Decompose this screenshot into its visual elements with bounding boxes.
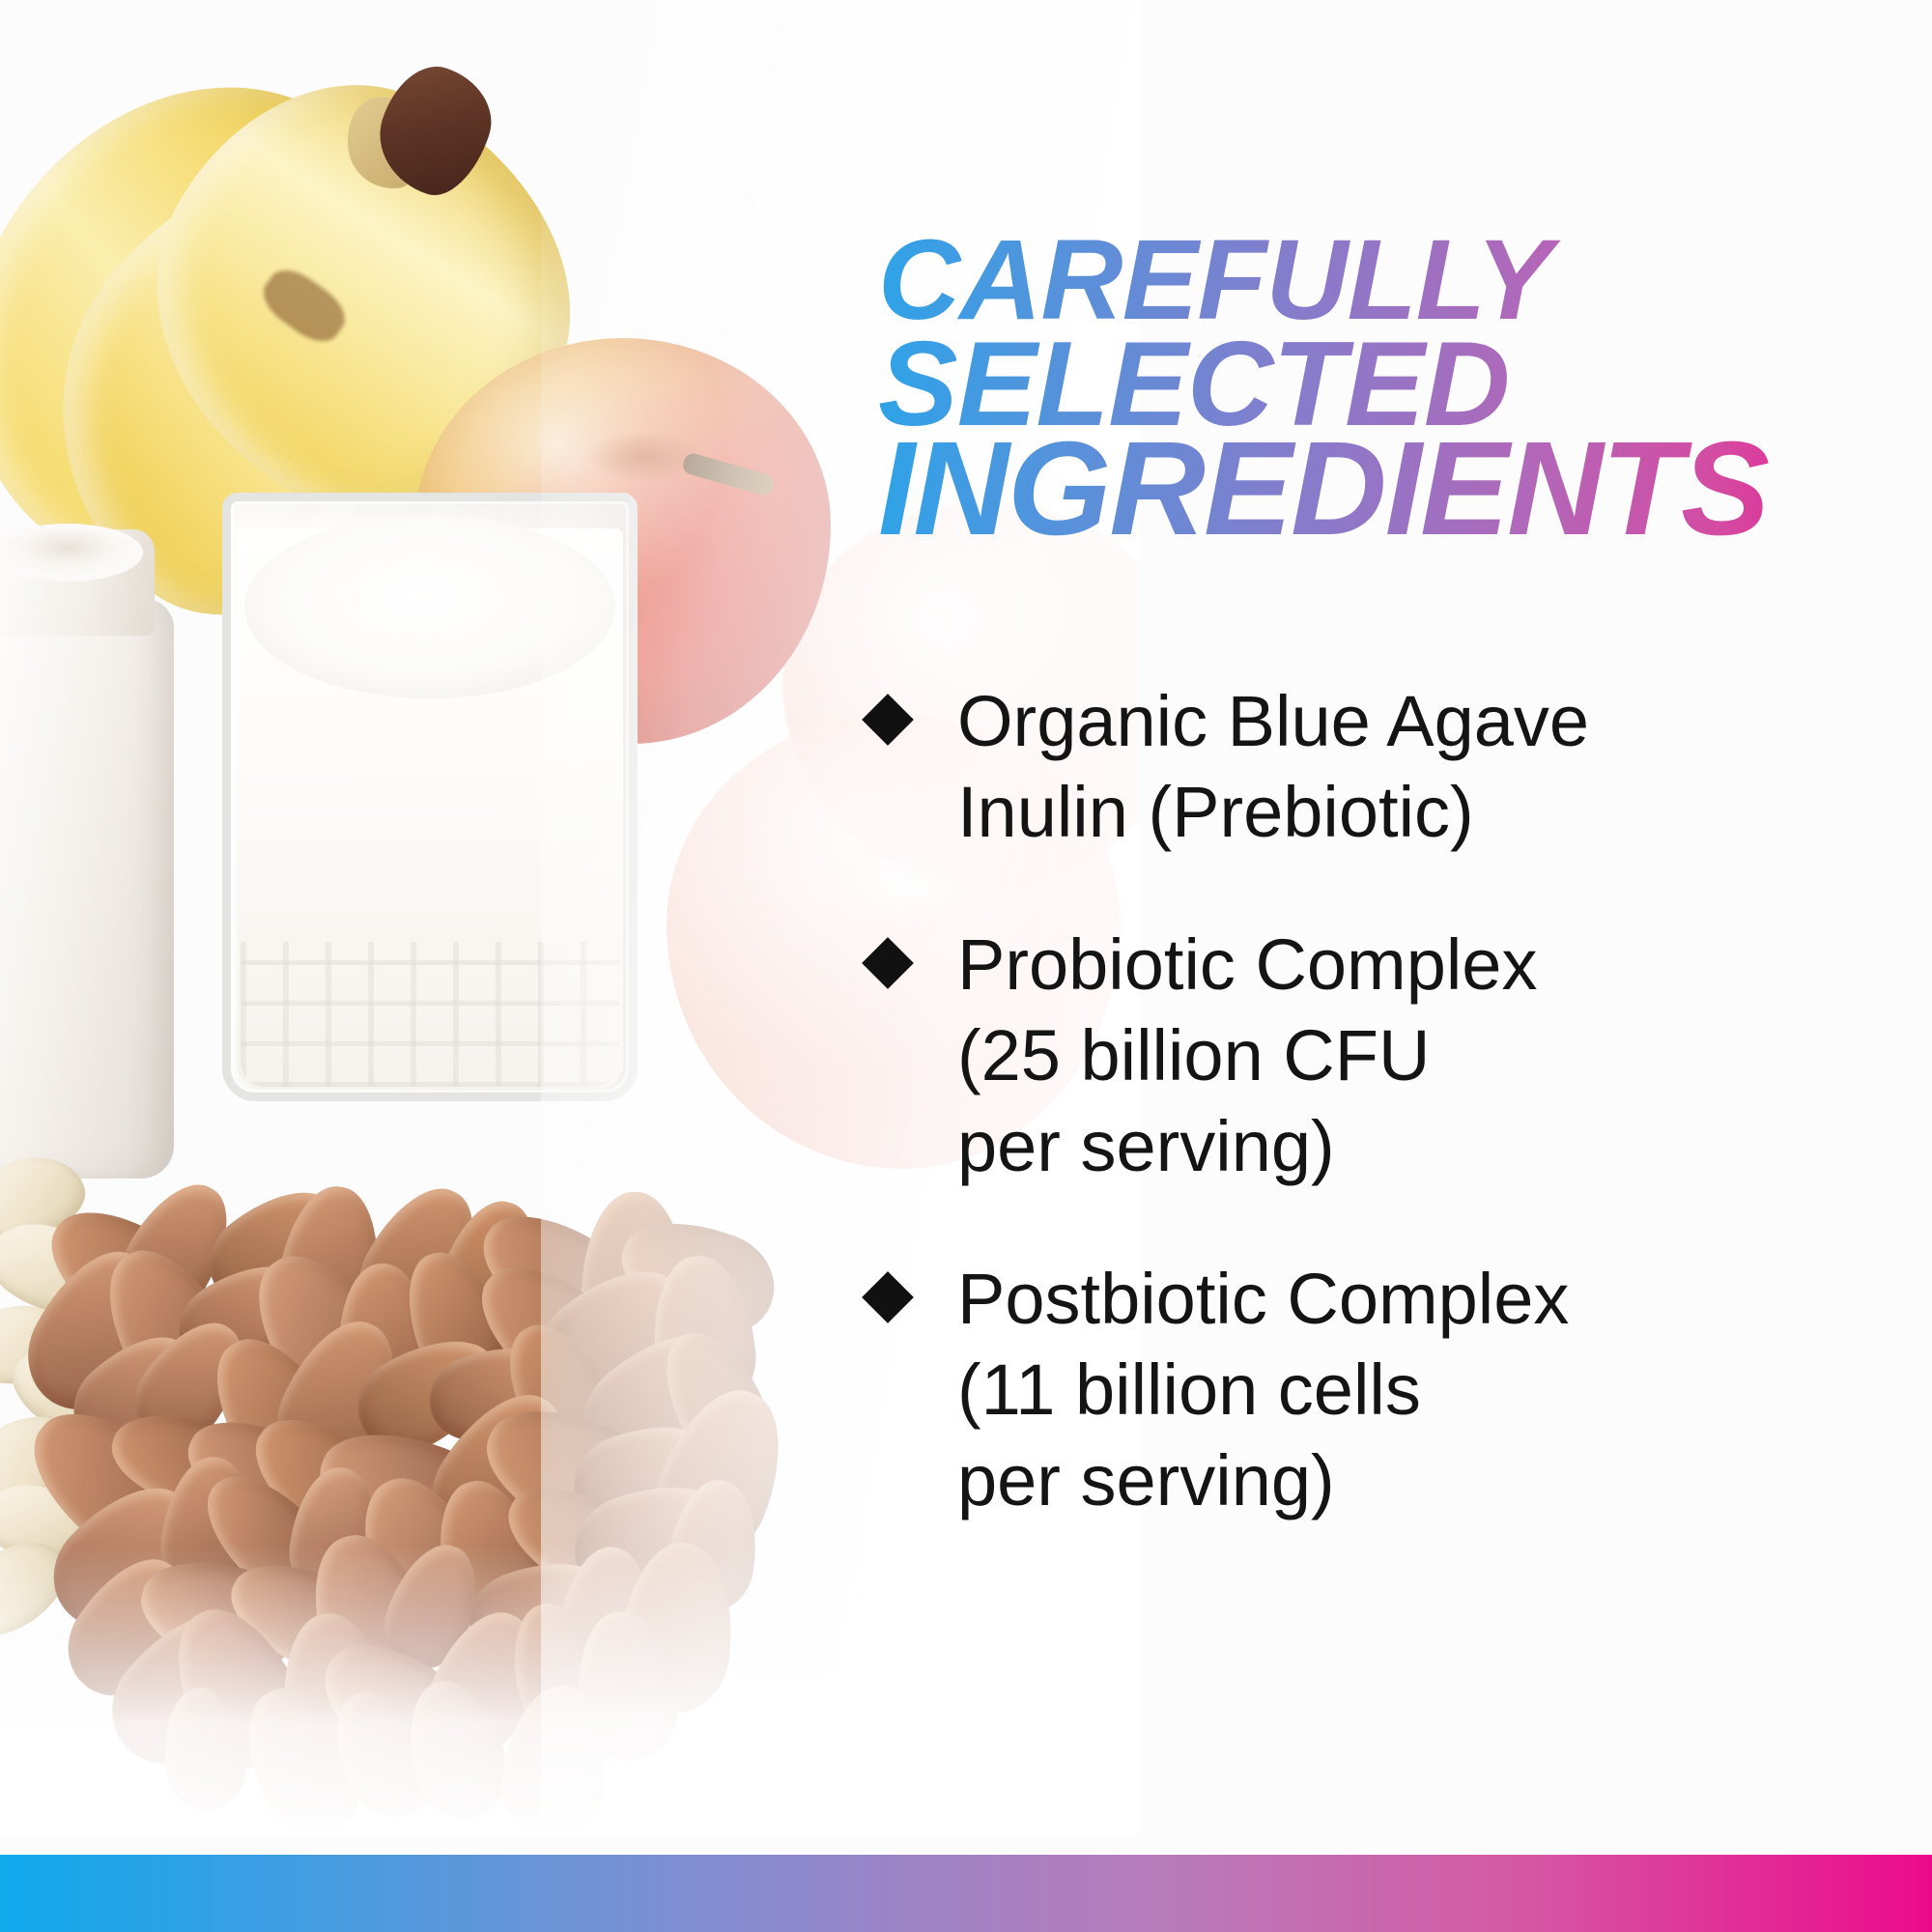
ingredient-list: Organic Blue Agave Inulin (Prebiotic) Pr… [865, 676, 1898, 1588]
diamond-bullet-icon [862, 1271, 914, 1323]
list-item-label: Probiotic Complex (25 billion CFU per se… [957, 924, 1537, 1186]
yogurt-bottle-image [0, 599, 174, 1179]
text-panel: CAREFULLY SELECTED INGREDIENTS Organic B… [865, 0, 1908, 1835]
list-item: Postbiotic Complex (11 billion cells per… [865, 1254, 1898, 1526]
poster-canvas: CAREFULLY SELECTED INGREDIENTS Organic B… [0, 0, 1932, 1932]
headline-line-3: INGREDIENTS [878, 437, 1902, 541]
list-item: Probiotic Complex (25 billion CFU per se… [865, 920, 1898, 1192]
headline-line-1: CAREFULLY [878, 228, 1902, 332]
headline: CAREFULLY SELECTED INGREDIENTS [878, 228, 1902, 541]
list-item-label: Organic Blue Agave Inulin (Prebiotic) [957, 681, 1589, 852]
list-item-label: Postbiotic Complex (11 billion cells per… [957, 1259, 1569, 1520]
diamond-bullet-icon [862, 937, 914, 989]
list-item: Organic Blue Agave Inulin (Prebiotic) [865, 676, 1898, 858]
bottom-gradient-bar [0, 1855, 1932, 1932]
apple-stem-icon [681, 451, 776, 497]
milk-glass-image [222, 493, 638, 1101]
diamond-bullet-icon [862, 694, 914, 746]
